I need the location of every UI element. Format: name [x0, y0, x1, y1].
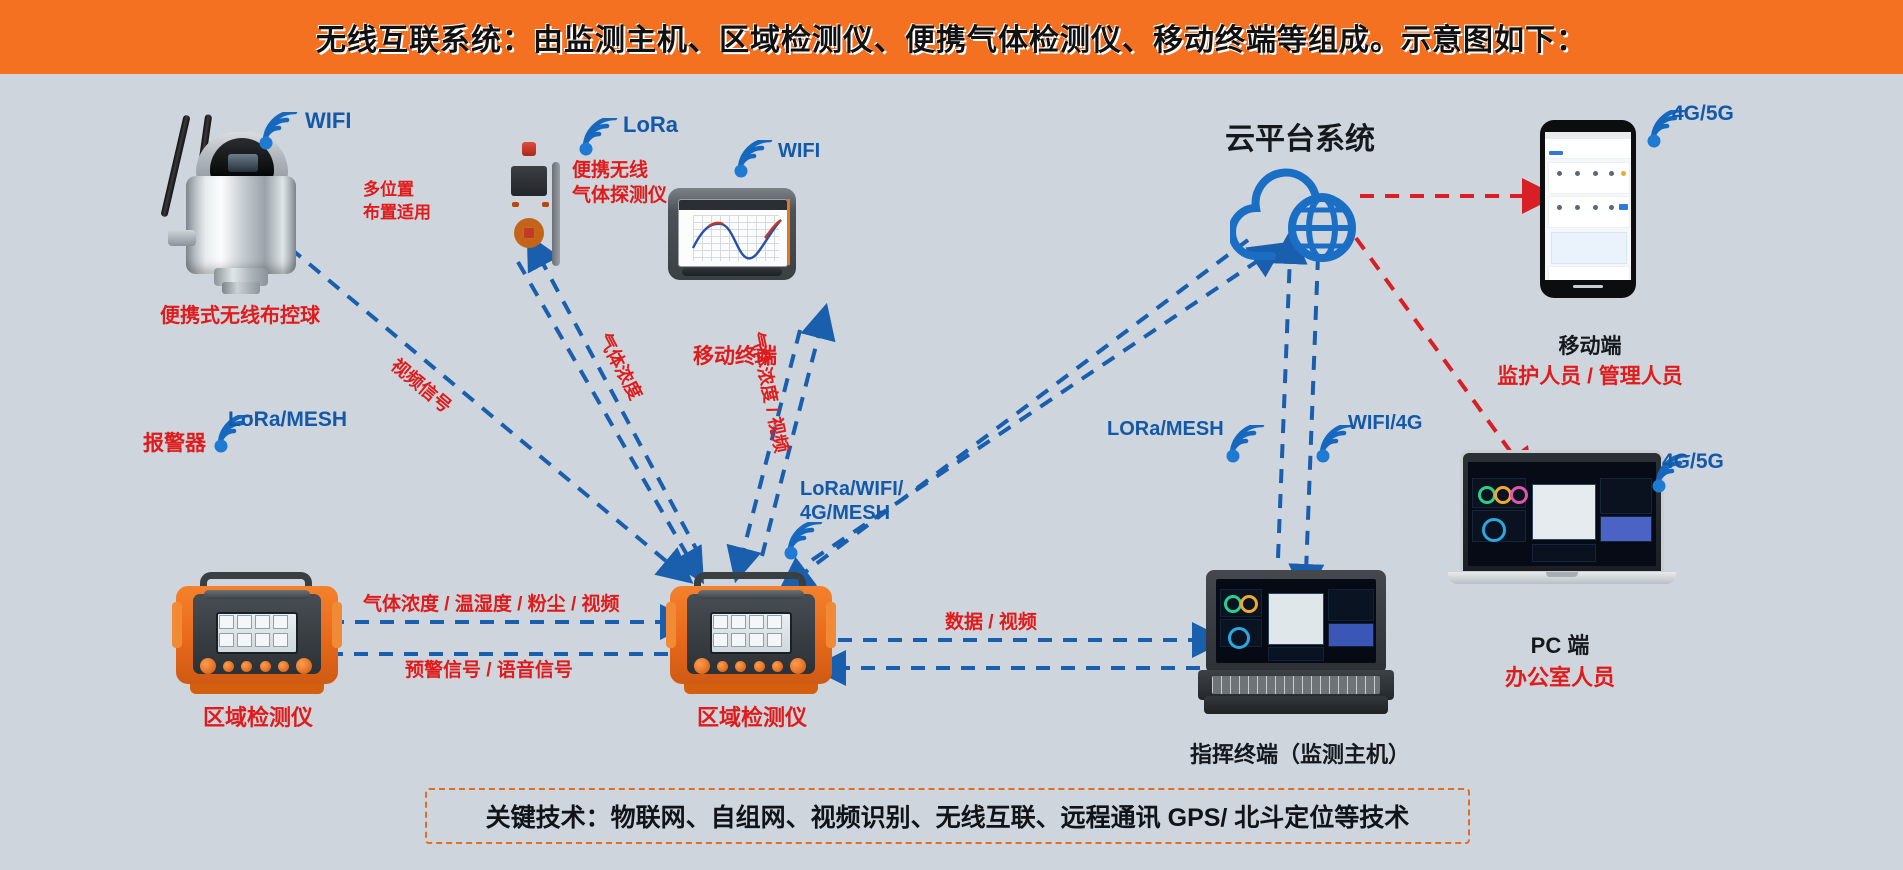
signal-label-lora-mesh-alarm: LoRa/MESH [228, 408, 347, 433]
detector-button[interactable] [260, 661, 271, 672]
pc-screen [1468, 462, 1656, 566]
command-terminal-keyboard[interactable] [1212, 676, 1380, 694]
detector-side-bumper-right [826, 602, 836, 648]
area-detector-left-device[interactable] [176, 572, 338, 690]
ct-map-view[interactable] [1268, 593, 1324, 645]
phone-card-bottom [1548, 266, 1630, 280]
label-gas-detector-line1: 便携无线 [572, 160, 648, 182]
phone-status-indicator [1621, 171, 1626, 176]
phone-stat-dot [1575, 171, 1580, 176]
detector-side-bumper-left [172, 602, 182, 648]
command-terminal-device[interactable] [1198, 570, 1394, 718]
key-technology-box: 关键技术：物联网、自组网、视频识别、无线互联、远程通讯 GPS/ 北斗定位等技术 [425, 788, 1470, 844]
wifi-icon-gas-detector [575, 118, 621, 158]
page-title: 无线互联系统：由监测主机、区域检测仪、便携气体检测仪、移动终端等组成。示意图如下… [316, 15, 1587, 59]
sublabel-smartphone-users: 监护人员 / 管理人员 [1420, 365, 1760, 390]
label-smartphone: 移动端 [1470, 335, 1710, 360]
label-cloud-platform: 云平台系统 [1150, 122, 1450, 157]
note-gas-detector-line2: 布置适用 [363, 203, 431, 223]
pc-panel-log [1532, 544, 1596, 562]
gas-detector-button-right[interactable] [542, 202, 549, 207]
diagram-canvas: 无线互联系统：由监测主机、区域检测仪、便携气体检测仪、移动终端等组成。示意图如下… [0, 0, 1903, 870]
label-command-terminal: 指挥终端（监测主机） [1140, 742, 1460, 768]
detector-power-button[interactable] [200, 658, 216, 674]
tablet-bottom-bezel [682, 268, 782, 276]
area-detector-center-device[interactable] [670, 572, 832, 690]
mobile-terminal-device[interactable] [668, 188, 796, 280]
detector-side-bumper-left [666, 602, 676, 648]
detector-button-row[interactable] [200, 656, 312, 676]
phone-status-indicator [1619, 204, 1628, 210]
ct-panel-log [1268, 647, 1324, 661]
phone-screen [1545, 132, 1631, 280]
label-pc-terminal: PC 端 [1450, 633, 1670, 659]
pc-terminal-device[interactable] [1448, 450, 1676, 596]
wifi-icon-surveillance-ball [255, 112, 301, 152]
detector-button[interactable] [241, 661, 252, 672]
detector-button-row[interactable] [694, 656, 806, 676]
wifi-icon-tablet [730, 140, 776, 180]
pc-donut-chart [1482, 518, 1506, 542]
detector-button[interactable] [223, 661, 234, 672]
pc-base-notch [1546, 572, 1578, 577]
phone-card-mid [1548, 196, 1630, 228]
smartphone-device[interactable] [1540, 120, 1636, 298]
tablet-chart-curve [691, 214, 783, 264]
detector-screen [216, 612, 298, 654]
detector-button[interactable] [278, 661, 289, 672]
detector-vent [698, 590, 804, 599]
detector-button[interactable] [754, 661, 765, 672]
detector-screen [710, 612, 792, 654]
signal-label-wifi-tablet: WIFI [778, 140, 820, 164]
tablet-status-bar [679, 200, 787, 210]
ball-side-knob [168, 230, 196, 246]
phone-home-indicator [1573, 285, 1603, 288]
gas-detector-strap [552, 162, 560, 266]
phone-stat-dot [1609, 205, 1614, 210]
gas-detector-button-left[interactable] [512, 202, 519, 207]
detector-button[interactable] [717, 661, 728, 672]
ct-panel-video [1328, 623, 1374, 647]
detector-power-button[interactable] [694, 658, 710, 674]
note-gas-detector-line1: 多位置 [363, 180, 414, 200]
detector-button[interactable] [735, 661, 746, 672]
phone-stat-dot [1593, 171, 1598, 176]
phone-stat-dot [1593, 205, 1598, 210]
signal-label-wifi-ball: WIFI [305, 108, 351, 134]
pc-panel-meters [1600, 478, 1652, 514]
wifi-icon-area-detector-center [780, 522, 826, 562]
signal-label-wifi4g-cmd: WIFI/4G [1348, 412, 1422, 436]
phone-trend-chart [1551, 232, 1627, 264]
portable-gas-detector-device[interactable] [500, 140, 562, 280]
detector-button[interactable] [772, 661, 783, 672]
gas-detector-screen [511, 166, 547, 196]
ct-gauge-orange [1240, 595, 1258, 613]
gas-detector-enter-key[interactable] [524, 228, 534, 238]
detector-vent [204, 590, 310, 599]
phone-status-bar [1545, 132, 1631, 139]
ct-panel-meters [1328, 589, 1374, 621]
pc-panel-video [1600, 516, 1652, 542]
phone-card-top [1548, 162, 1630, 194]
signal-label-lora-mesh-cmd: LORa/MESH [1107, 418, 1224, 442]
label-surveillance-ball: 便携式无线布控球 [140, 305, 340, 329]
label-gas-detector-line2: 气体探测仪 [572, 185, 667, 207]
signal-label-center-line2: 4G/MESH [800, 502, 890, 526]
label-mobile-terminal: 移动终端 [640, 345, 830, 370]
signal-label-center-line1: LoRa/WIFI/ [800, 478, 903, 502]
command-terminal-screen [1216, 579, 1376, 663]
pc-gauge-pink [1510, 486, 1528, 504]
tablet-accent-stripe [787, 199, 790, 265]
ct-donut-chart [1228, 627, 1250, 649]
edge-label-alarm-to-center-bottom: 预警信号 / 语音信号 [405, 660, 573, 682]
phone-stat-dot [1557, 205, 1562, 210]
key-technology-text: 关键技术：物联网、自组网、视频识别、无线互联、远程通讯 GPS/ 北斗定位等技术 [486, 798, 1410, 834]
edge-label-alarm-to-center-top: 气体浓度 / 温湿度 / 粉尘 / 视频 [363, 594, 620, 616]
edge-label-gas-concentration: 气体浓度 [593, 330, 646, 404]
phone-stat-dot [1557, 171, 1562, 176]
detector-side-bumper-right [332, 602, 342, 648]
phone-stat-dot [1575, 205, 1580, 210]
command-terminal-bottom [1204, 696, 1388, 714]
detector-alarm-button[interactable] [790, 658, 806, 674]
phone-active-tab[interactable] [1549, 151, 1563, 155]
sublabel-pc-users: 办公室人员 [1430, 665, 1690, 691]
detector-foot [684, 684, 818, 694]
phone-stat-dot [1609, 171, 1614, 176]
tablet-screen [678, 199, 788, 267]
label-alarm-device: 报警器 [143, 432, 206, 457]
globe-icon [1292, 198, 1352, 258]
pc-map-view[interactable] [1532, 484, 1596, 540]
wifi-icon-command-terminal-left [1222, 425, 1268, 465]
camera-lens-inner [228, 154, 258, 172]
ball-body [186, 176, 296, 274]
label-area-detector-center: 区域检测仪 [652, 705, 852, 731]
detector-alarm-button[interactable] [296, 658, 312, 674]
signal-label-4g5g-phone: 4G/5G [1672, 102, 1734, 127]
header-banner: 无线互联系统：由监测主机、区域检测仪、便携气体检测仪、移动终端等组成。示意图如下… [0, 0, 1903, 74]
ball-base-lower [222, 282, 260, 294]
signal-label-4g5g-pc: 4G/5G [1662, 450, 1724, 475]
label-area-detector-left: 区域检测仪 [158, 705, 358, 731]
detector-foot [190, 684, 324, 694]
edge-label-data-video: 数据 / 视频 [945, 612, 1037, 634]
cloud-platform-icon[interactable] [1230, 160, 1380, 272]
edge-label-video-signal: 视频信号 [386, 355, 455, 418]
signal-label-lora-gas: LoRa [623, 112, 678, 138]
